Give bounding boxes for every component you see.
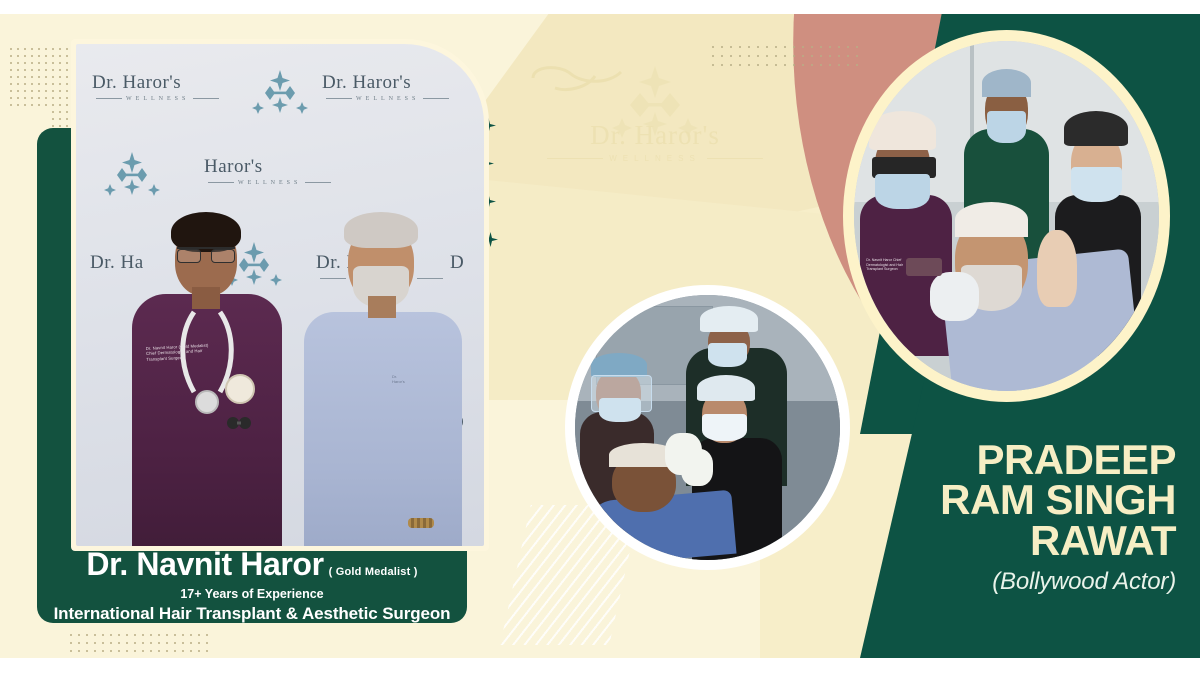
patterned-surgical-cap-icon	[869, 111, 936, 150]
stethoscope-icon	[154, 306, 260, 426]
h-diamond-emblem-icon	[104, 150, 160, 200]
headline-line-2: RAM SINGH	[786, 480, 1176, 520]
doctor-name: Dr. Navnit Haror	[86, 546, 323, 583]
patient-hair	[344, 212, 418, 248]
gloved-hand	[681, 449, 713, 486]
surgical-cap-icon	[1064, 111, 1128, 146]
face-mask-icon	[708, 343, 748, 367]
patient-gown	[304, 312, 462, 546]
operating-room-scene: Dr. Navnit Haror Chief Dermatologist and…	[854, 41, 1159, 391]
doctor-glasses-icon	[177, 247, 235, 259]
celebrity-headline: PRADEEP RAM SINGH RAWAT (Bollywood Actor…	[786, 440, 1176, 596]
face-mask-icon	[1071, 167, 1123, 202]
promotional-poster: Dr. Haror's WELLNESS Dr. Haror's WELLNES…	[0, 0, 1200, 675]
face-mask-icon	[987, 111, 1027, 143]
doctor-caption: Dr. Navnit Haror( Gold Medalist ) 17+ Ye…	[37, 546, 467, 624]
face-mask-icon	[875, 174, 930, 209]
face-mask-icon	[599, 398, 641, 422]
main-photo: Dr. Haror's WELLNESS Dr. Haror'	[76, 44, 484, 546]
h-diamond-emblem-watermark-icon	[600, 60, 710, 150]
surgical-cap-icon	[982, 69, 1031, 97]
thumbs-up-gesture	[1037, 230, 1077, 307]
top-white-strip	[0, 0, 1200, 14]
surgical-loupes-icon	[226, 412, 252, 434]
backdrop-logo: Dr. Haror's WELLNESS	[92, 72, 223, 102]
backdrop-logo: Haror's WELLNESS	[204, 156, 335, 186]
h-diamond-emblem-icon	[252, 68, 308, 118]
face-mask-icon	[702, 414, 747, 441]
doctor-experience: 17+ Years of Experience	[37, 587, 467, 601]
surgical-cap-icon	[700, 306, 758, 333]
surgical-team-photo: Dr. Navnit Haror Chief Dermatologist and…	[854, 41, 1159, 391]
headline-subtitle: (Bollywood Actor)	[786, 568, 1176, 596]
main-photo-frame: Dr. Haror's WELLNESS Dr. Haror'	[71, 39, 489, 551]
doctor-credential: ( Gold Medalist )	[329, 566, 418, 578]
doctor-hair	[171, 212, 241, 252]
caption-name-row: Dr. Navnit Haror( Gold Medalist )	[37, 546, 467, 583]
handpiece-device	[906, 258, 943, 276]
patient-wrist-beads	[408, 518, 434, 528]
surgical-team-photo-frame: Dr. Navnit Haror Chief Dermatologist and…	[843, 30, 1170, 402]
patient-neck	[368, 296, 396, 318]
gown-logo-text: Dr. Haror's	[392, 374, 405, 384]
headline-line-1: PRADEEP	[786, 440, 1176, 480]
backdrop-logo: D	[450, 252, 464, 274]
bottom-white-strip	[0, 658, 1200, 675]
doctor-role: International Hair Transplant & Aestheti…	[37, 604, 467, 624]
headline-line-3: RAWAT	[786, 521, 1176, 561]
gloved-hand	[930, 272, 979, 321]
doctor-badge	[225, 374, 255, 404]
head-bandage	[955, 202, 1028, 237]
surgical-cap-icon	[697, 375, 755, 402]
surgical-cap-icon	[591, 353, 647, 377]
backdrop-logo: Dr. Haror's WELLNESS	[322, 72, 453, 102]
backdrop-logo: Dr. Ha	[90, 252, 144, 274]
